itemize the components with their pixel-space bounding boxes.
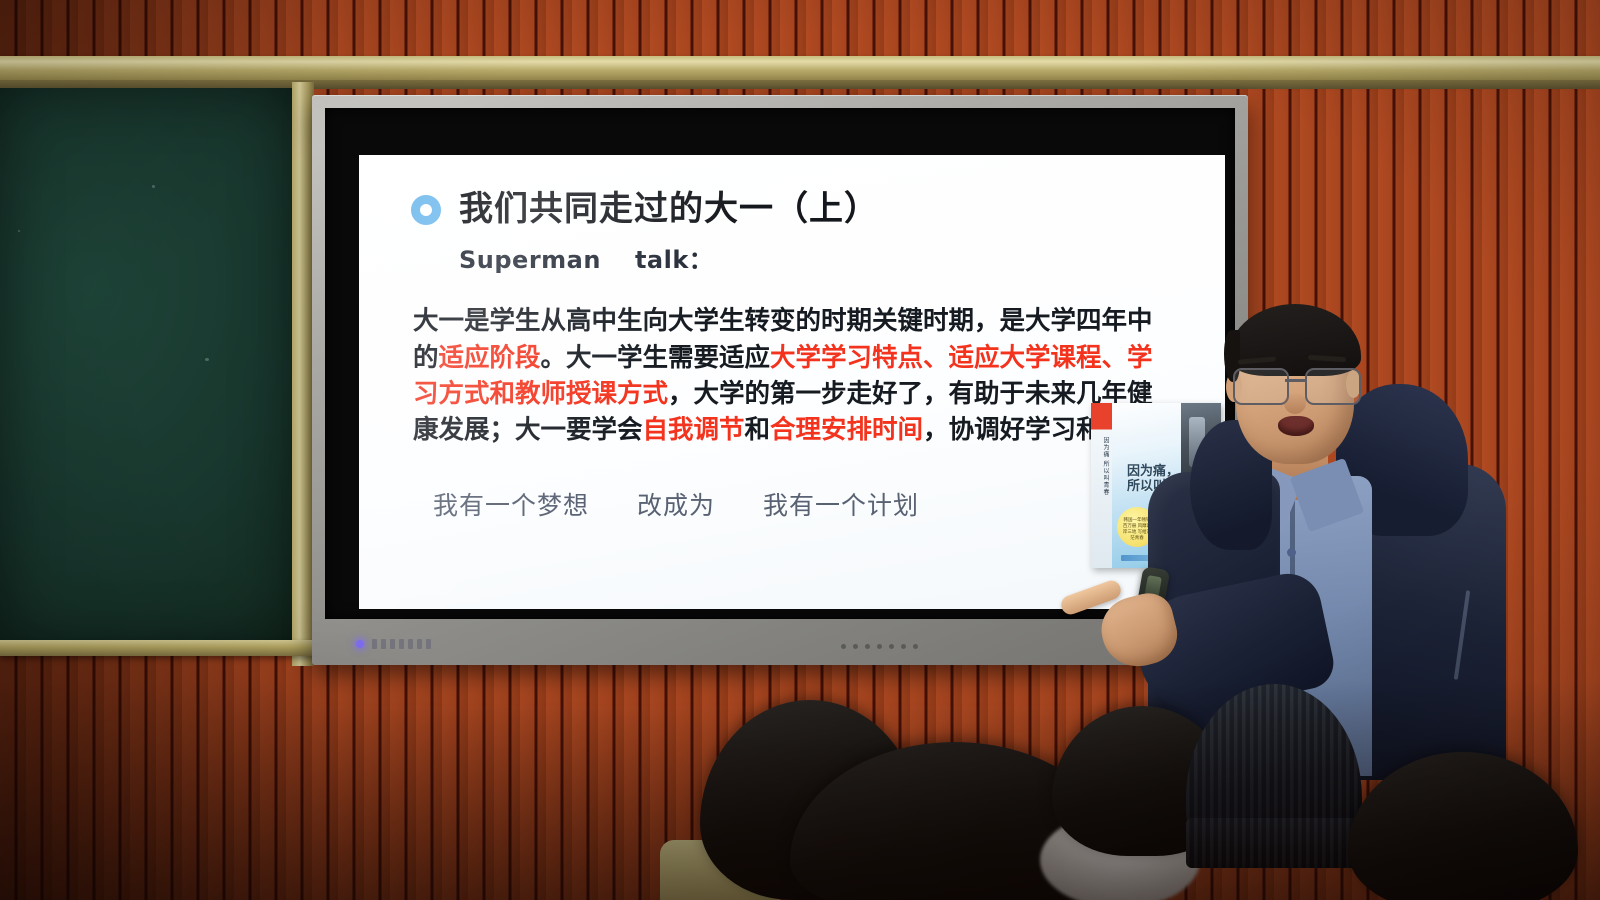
instructor-mouth-speaking: [1278, 416, 1314, 436]
highlighted-text: 习方式和教师授课方式: [413, 379, 668, 409]
slide-title-row: 我们共同走过的大一（上）: [411, 191, 1195, 228]
chalkboard-frame-right: [292, 82, 314, 666]
circle-ring-icon: [411, 195, 441, 225]
body-text: 和: [745, 415, 771, 445]
closing-part-3: 我有一个计划: [763, 491, 919, 520]
subtitle-second: talk：: [635, 246, 713, 274]
closing-part-1: 我有一个梦想: [433, 491, 589, 520]
page-title: 我们共同走过的大一（上）: [459, 191, 879, 228]
instructor-nose: [1284, 392, 1306, 414]
body-text: 的: [413, 343, 439, 373]
chalkboard: [0, 88, 292, 648]
instructor-hair: [1229, 304, 1361, 376]
body-text: 。大一学生需要适应: [541, 343, 771, 373]
highlighted-text: 合理安排时间: [770, 415, 923, 445]
highlighted-text: 适应阶段: [439, 343, 541, 373]
display-control-buttons[interactable]: [372, 639, 431, 649]
slide-subtitle: Supermantalk：: [459, 240, 1195, 275]
classroom-photo: 我们共同走过的大一（上） Supermantalk： 大一是学生从高中生向大学生…: [0, 0, 1600, 900]
wall-trim-molding: [0, 56, 1600, 82]
chalkboard-chalk-ledge: [0, 640, 314, 656]
speaker-grille: [841, 644, 918, 649]
highlighted-text: 自我调节: [643, 415, 745, 445]
subtitle-main: Superman: [459, 246, 601, 274]
power-led-indicator: [356, 640, 364, 648]
body-text: 康发展；大一要学会: [413, 415, 643, 445]
closing-part-2: 改成为: [637, 491, 715, 520]
